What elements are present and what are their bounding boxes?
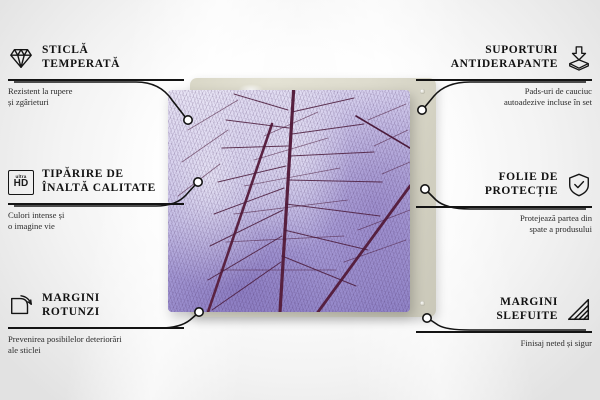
feature-description: Culori intense șio imagine vie xyxy=(8,210,184,233)
feature-folie-de-protectie: FOLIE DEPROTECȚIE Protejează partea dins… xyxy=(416,167,592,236)
feature-description: Protejează partea dinspate a produsului xyxy=(416,213,592,236)
feature-divider xyxy=(8,327,184,329)
ultra-hd-icon-main-label: HD xyxy=(14,179,29,189)
feature-header: STICLĂTEMPERATĂ xyxy=(8,40,184,76)
feature-header: ultra HD TIPĂRIRE DEÎNALTĂ CALITATE xyxy=(8,164,184,200)
hatched-triangle-icon xyxy=(566,297,592,323)
feature-description: Finisaj neted și sigur xyxy=(416,338,592,350)
feature-header: SUPORTURIANTIDERAPANTE xyxy=(416,40,592,76)
feature-title: FOLIE DEPROTECȚIE xyxy=(485,171,558,198)
glass-board-front xyxy=(168,90,410,312)
pad-arrow-down-icon xyxy=(566,45,592,71)
feature-tiparire-inalta-calitate: ultra HD TIPĂRIRE DEÎNALTĂ CALITATE Culo… xyxy=(8,164,184,233)
feature-title: SUPORTURIANTIDERAPANTE xyxy=(451,44,558,71)
feature-margini-slefuite: MARGINISLEFUITE Finisaj neted și sigur xyxy=(416,292,592,349)
feature-header: FOLIE DEPROTECȚIE xyxy=(416,167,592,203)
feature-divider xyxy=(416,331,592,333)
product-mockup xyxy=(168,78,436,324)
feature-title: MARGINISLEFUITE xyxy=(496,296,558,323)
feature-divider xyxy=(416,79,592,81)
leaf-vein-lines xyxy=(168,90,410,312)
feature-sticla-temperata: STICLĂTEMPERATĂ Rezistent la rupereși zg… xyxy=(8,40,184,109)
feature-suporturi-antiderapante: SUPORTURIANTIDERAPANTE Pads-uri de cauci… xyxy=(416,40,592,109)
feature-divider xyxy=(8,203,184,205)
feature-divider xyxy=(8,79,184,81)
feature-title: MARGINIROTUNZI xyxy=(42,292,100,319)
diamond-icon xyxy=(8,45,34,71)
feature-title: TIPĂRIRE DEÎNALTĂ CALITATE xyxy=(42,168,156,195)
leaf-vein-artwork xyxy=(168,90,410,312)
feature-header: MARGINISLEFUITE xyxy=(416,292,592,328)
feature-description: Rezistent la rupereși zgârieturi xyxy=(8,86,184,109)
ultra-hd-icon: ultra HD xyxy=(8,170,34,195)
rounded-corner-icon xyxy=(8,293,34,319)
shield-check-icon xyxy=(566,172,592,198)
feature-description: Pads-uri de cauciucautoadezive incluse î… xyxy=(416,86,592,109)
feature-description: Prevenirea posibilelor deteriorăriale st… xyxy=(8,334,184,357)
feature-header: MARGINIROTUNZI xyxy=(8,288,184,324)
feature-divider xyxy=(416,206,592,208)
feature-margini-rotunzi: MARGINIROTUNZI Prevenirea posibilelor de… xyxy=(8,288,184,357)
feature-title: STICLĂTEMPERATĂ xyxy=(42,44,120,71)
